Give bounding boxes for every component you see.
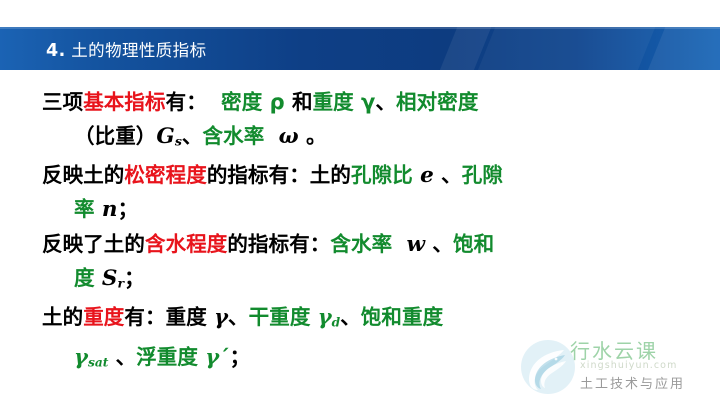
line4-term-porosity-end: 率 [74, 197, 95, 221]
line1-seg6: 和 [292, 90, 313, 114]
line1-seg9: 、 [375, 90, 396, 114]
title-number: 4. [46, 41, 66, 61]
line5-term-saturation-part: 饱和 [453, 232, 494, 256]
line6-term-saturation-end: 度 [74, 266, 95, 290]
title-bar-stripe-3 [642, 27, 720, 70]
page-title: 4. 土的物理性质指标 [46, 37, 206, 61]
line1-seg1: 三项 [42, 90, 83, 114]
line1-term-relative-density: 相对密度 [396, 90, 478, 114]
line8-symbol-gamma-sat: γsat [74, 344, 108, 369]
line1-seg3: 有： [166, 90, 207, 114]
line1-symbol-rho: ρ [270, 90, 285, 114]
body-line-6: 度 Sr； [42, 262, 708, 300]
body-line-2: （比重）Gs、含水率 ω 。 [42, 120, 708, 158]
line7-symbol-gamma-d: γd [318, 304, 340, 329]
line2-symbol-omega: ω [279, 123, 299, 148]
line3-term-porosity-part: 孔隙 [462, 163, 503, 187]
line5-symbol-w: w [407, 232, 426, 257]
body-line-5: 反映了土的含水程度的指标有：含水率 w 、饱和 [42, 228, 708, 262]
line7-symbol-gamma-d-subscript: d [332, 316, 341, 330]
line2-symbol-Gs: Gs [156, 124, 182, 149]
title-bar-highlight-line [0, 27, 720, 29]
title-bar-stripe-2 [472, 27, 660, 70]
line7-seg8: 、 [340, 305, 361, 329]
line5-term-water-content: 含水率 [330, 232, 392, 256]
watermark-url: xingshuiyun.com [580, 360, 677, 371]
line8-symbol-prime: ´ [219, 345, 229, 369]
line2-seg3: 、 [182, 124, 203, 148]
line5-seg1: 反映了土的 [42, 232, 145, 256]
line8-seg6: ； [230, 345, 251, 369]
line3-seg3: 的指标有：土的 [207, 163, 351, 187]
body-line-4: 率 n； [42, 193, 708, 227]
line3-seg1: 反映土的 [42, 163, 124, 187]
line6-symbol-Sr: Sr [102, 266, 124, 291]
line4-symbol-n: n [102, 197, 118, 222]
line2-seg1: （比重） [74, 124, 156, 148]
line8-seg2: 、 [116, 345, 137, 369]
line1-symbol-gamma: γ [361, 90, 375, 114]
line7-seg5: 、 [228, 305, 249, 329]
line2-symbol-Gs-subscript: s [175, 133, 182, 148]
line2-seg6: 。 [306, 124, 327, 148]
line6-seg3: ； [124, 266, 145, 290]
line5-seg3: 的指标有： [227, 232, 330, 256]
line8-term-buoyant-unit-weight: 浮重度 [136, 345, 198, 369]
line7-seg1: 土的 [42, 305, 83, 329]
body-line-1: 三项基本指标有： 密度 ρ 和重度 γ、相对密度 [42, 86, 708, 119]
title-label: 土的物理性质指标 [71, 41, 206, 60]
line3-seg6: 、 [441, 163, 462, 187]
line1-term-unit-weight: 重度 [313, 90, 354, 114]
line2-term-water-content: 含水率 [203, 124, 265, 148]
line7-highlight-red: 重度 [83, 305, 124, 329]
line1-highlight-red: 基本指标 [83, 90, 165, 114]
line3-term-void-ratio: 孔隙比 [351, 163, 413, 187]
watermark-subtitle: 土工技术与应用 [580, 373, 685, 392]
line7-term-saturated-unit-weight: 饱和重度 [361, 305, 443, 329]
line3-symbol-e: e [420, 163, 434, 188]
line8-symbol-gamma: γ [205, 344, 219, 369]
line1-term-density: 密度 [221, 90, 262, 114]
line7-seg3: 有：重度 [124, 305, 206, 329]
body-line-3: 反映土的松密程度的指标有：土的孔隙比 e 、孔隙 [42, 159, 708, 193]
title-bar-stripe-1 [434, 27, 496, 70]
line8-symbol-gamma-sat-subscript: sat [88, 355, 108, 369]
watermark: 行水云课 xingshuiyun.com 土工技术与应用 [518, 333, 714, 401]
line5-seg6: 、 [432, 232, 453, 256]
line4-seg3: ； [118, 197, 139, 221]
slide-title-bar: 4. 土的物理性质指标 [0, 27, 720, 70]
line5-highlight-red: 含水程度 [145, 232, 227, 256]
line7-symbol-gamma: γ [214, 304, 228, 329]
wave-swirl-logo-icon [518, 337, 578, 397]
line7-term-dry-unit-weight: 干重度 [249, 305, 311, 329]
line3-highlight-red: 松密程度 [124, 163, 206, 187]
slide-canvas: 4. 土的物理性质指标 三项基本指标有： 密度 ρ 和重度 γ、相对密度 （比重… [0, 0, 720, 405]
